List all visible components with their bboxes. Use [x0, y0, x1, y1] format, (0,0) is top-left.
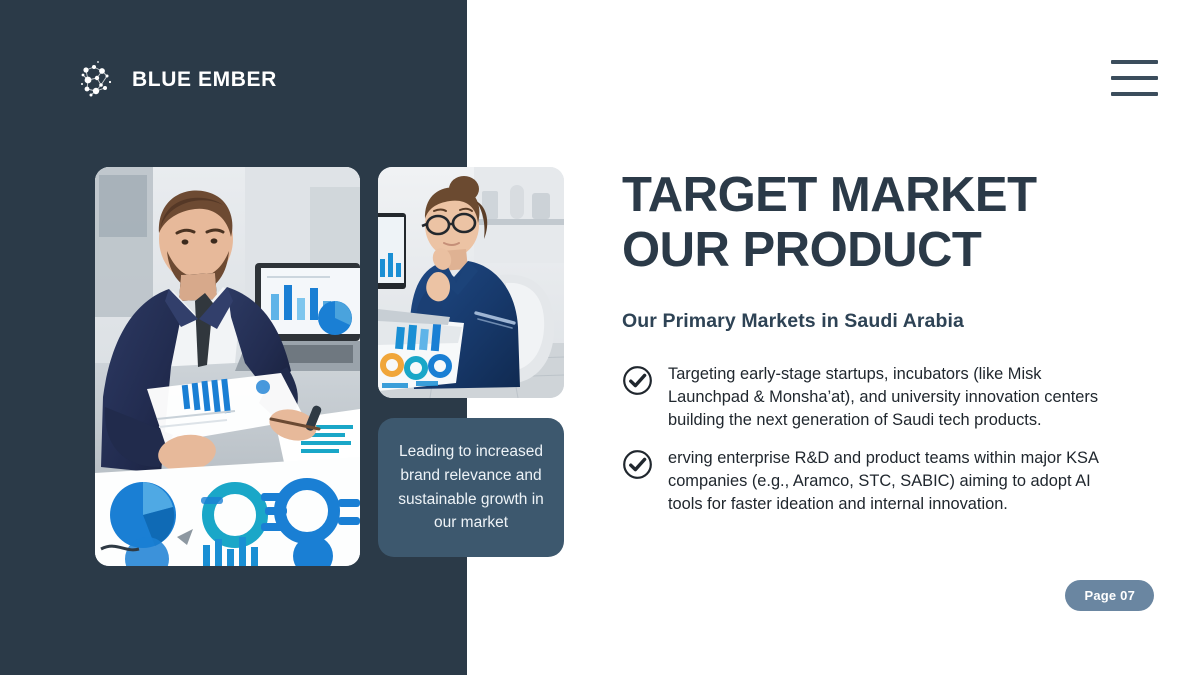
brand-name: BLUE EMBER — [132, 68, 277, 92]
brand-logo[interactable]: BLUE EMBER — [74, 58, 277, 102]
bullet-text: erving enterprise R&D and product teams … — [668, 447, 1113, 517]
businessman-analyzing-charts-photo — [95, 167, 360, 566]
list-item: erving enterprise R&D and product teams … — [622, 447, 1122, 517]
page-number-badge: Page 07 — [1065, 580, 1154, 611]
slide-content: TARGET MARKET OUR PRODUCT Our Primary Ma… — [622, 168, 1122, 531]
page-title: TARGET MARKET OUR PRODUCT — [622, 168, 1122, 278]
quote-callout-card: Leading to increased brand relevance and… — [378, 418, 564, 557]
bullet-text: Targeting early-stage startups, incubato… — [668, 363, 1113, 433]
list-item: Targeting early-stage startups, incubato… — [622, 363, 1122, 433]
check-circle-icon — [622, 449, 653, 480]
hamburger-line-1 — [1111, 60, 1158, 64]
check-circle-icon — [622, 365, 653, 396]
slide-root: BLUE EMBER — [0, 0, 1200, 675]
particle-network-icon — [74, 58, 118, 102]
businesswoman-at-desk-photo — [378, 167, 564, 398]
hamburger-line-3 — [1111, 92, 1158, 96]
quote-text: Leading to increased brand relevance and… — [392, 440, 550, 535]
subtitle: Our Primary Markets in Saudi Arabia — [622, 310, 1122, 333]
bullet-list: Targeting early-stage startups, incubato… — [622, 363, 1122, 517]
hamburger-line-2 — [1111, 76, 1158, 80]
hamburger-menu-icon[interactable] — [1111, 60, 1158, 96]
